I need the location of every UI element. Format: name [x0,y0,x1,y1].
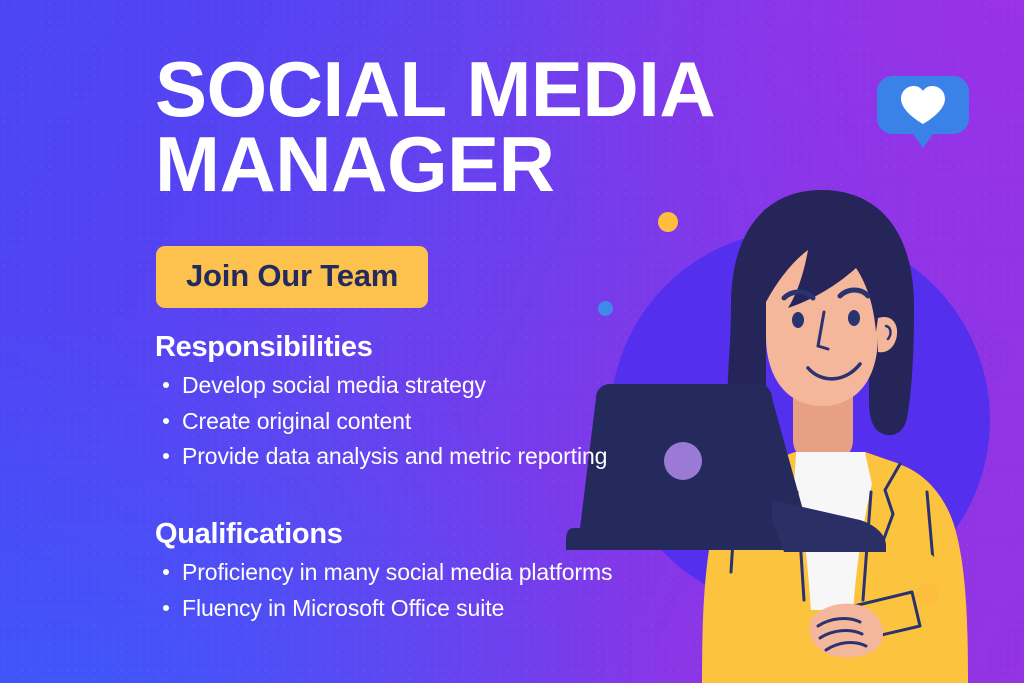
responsibilities-heading: Responsibilities [155,331,715,364]
join-our-team-button[interactable]: Join Our Team [156,246,428,308]
like-badge [877,76,969,148]
list-item: Fluency in Microsoft Office suite [155,595,715,623]
list-item: Create original content [155,408,715,436]
headline-line-2: MANAGER [155,127,815,202]
responsibilities-section: Responsibilities Develop social media st… [155,331,715,479]
qualifications-list: Proficiency in many social media platfor… [155,559,715,622]
list-item: Develop social media strategy [155,372,715,400]
eye-left [792,312,804,328]
list-item: Proficiency in many social media platfor… [155,559,715,587]
yellow-dot-bottom [917,583,939,605]
job-posting-poster: SOCIAL MEDIA MANAGER Join Our Team Respo… [0,0,1024,683]
qualifications-section: Qualifications Proficiency in many socia… [155,518,715,630]
blue-dot [598,301,613,316]
responsibilities-list: Develop social media strategy Create ori… [155,372,715,471]
qualifications-heading: Qualifications [155,518,715,551]
yellow-dot-top [658,212,678,232]
list-item: Provide data analysis and metric reporti… [155,443,715,471]
page-title: SOCIAL MEDIA MANAGER [155,52,815,202]
eye-right [848,310,860,326]
